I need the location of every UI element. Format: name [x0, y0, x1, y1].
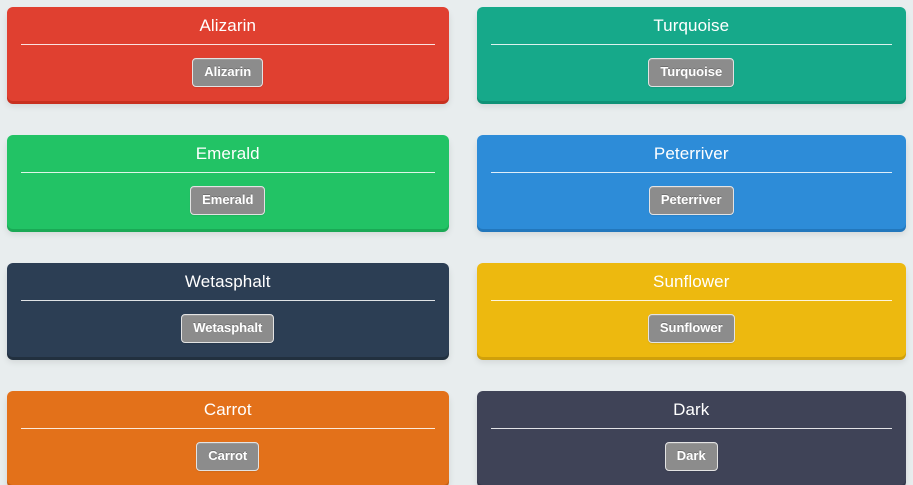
- grid-cell-alizarin: Alizarin Alizarin: [7, 7, 457, 101]
- card-body: Peterriver: [491, 173, 893, 215]
- card-button-wetasphalt[interactable]: Wetasphalt: [181, 314, 274, 343]
- card-alizarin: Alizarin Alizarin: [7, 7, 449, 101]
- card-title: Dark: [491, 397, 893, 423]
- card-button-peterriver[interactable]: Peterriver: [649, 186, 734, 215]
- card-carrot: Carrot Carrot: [7, 391, 449, 485]
- card-turquoise: Turquoise Turquoise: [477, 7, 907, 101]
- card-body: Carrot: [21, 429, 435, 471]
- card-body: Wetasphalt: [21, 301, 435, 343]
- card-button-sunflower[interactable]: Sunflower: [648, 314, 735, 343]
- grid-cell-peterriver: Peterriver Peterriver: [457, 135, 907, 229]
- card-title: Carrot: [21, 397, 435, 423]
- card-title: Turquoise: [491, 13, 893, 39]
- grid-cell-dark: Dark Dark: [457, 391, 907, 485]
- card-title: Wetasphalt: [21, 269, 435, 295]
- grid-cell-emerald: Emerald Emerald: [7, 135, 457, 229]
- color-card-grid: Alizarin Alizarin Turquoise Turquoise Em…: [0, 0, 913, 444]
- card-button-emerald[interactable]: Emerald: [190, 186, 265, 215]
- card-button-turquoise[interactable]: Turquoise: [648, 58, 734, 87]
- card-title: Sunflower: [491, 269, 893, 295]
- grid-cell-wetasphalt: Wetasphalt Wetasphalt: [7, 263, 457, 357]
- card-button-alizarin[interactable]: Alizarin: [192, 58, 263, 87]
- card-sunflower: Sunflower Sunflower: [477, 263, 907, 357]
- card-body: Emerald: [21, 173, 435, 215]
- card-body: Alizarin: [21, 45, 435, 87]
- card-body: Dark: [491, 429, 893, 471]
- card-peterriver: Peterriver Peterriver: [477, 135, 907, 229]
- card-body: Sunflower: [491, 301, 893, 343]
- card-button-carrot[interactable]: Carrot: [196, 442, 259, 471]
- card-emerald: Emerald Emerald: [7, 135, 449, 229]
- card-body: Turquoise: [491, 45, 893, 87]
- card-title: Emerald: [21, 141, 435, 167]
- card-title: Alizarin: [21, 13, 435, 39]
- grid-cell-turquoise: Turquoise Turquoise: [457, 7, 907, 101]
- card-dark: Dark Dark: [477, 391, 907, 485]
- card-button-dark[interactable]: Dark: [665, 442, 718, 471]
- grid-cell-carrot: Carrot Carrot: [7, 391, 457, 485]
- grid-cell-sunflower: Sunflower Sunflower: [457, 263, 907, 357]
- card-wetasphalt: Wetasphalt Wetasphalt: [7, 263, 449, 357]
- card-title: Peterriver: [491, 141, 893, 167]
